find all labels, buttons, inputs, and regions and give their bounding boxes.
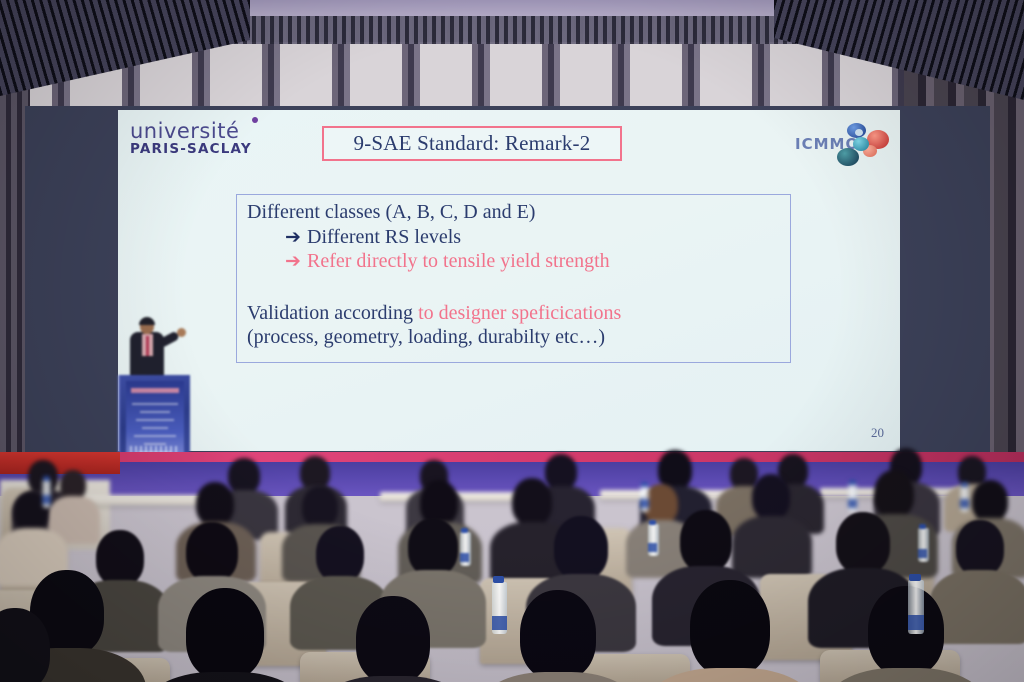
validation-line: Validation according to designer spefici… [247,302,621,325]
audience-area [0,440,1024,682]
validation-accent: to designer speficications [418,302,621,324]
arrow-right-icon-pink: ➔ [285,250,307,272]
bullet-label-2: Refer directly to tensile yield strength [307,250,610,272]
logo-dot-icon [252,117,258,123]
speaker-hand [177,328,186,337]
icmmo-sphere-small-icon [855,129,863,136]
logo-line-1: université [130,121,239,142]
icmmo-sphere-dark-icon [837,148,859,166]
validation-prefix: Validation according [247,302,418,324]
ceiling-truss-band [180,16,840,44]
slide-title-box: 9-SAE Standard: Remark-2 [322,126,622,161]
icmmo-logo: ICMMO [795,123,890,165]
validation-line-2: (process, geometry, loading, durabilty e… [247,326,605,349]
conference-photo: université PARIS-SACLAY ICMMO 9-SAE Stan… [0,0,1024,682]
slide-title: 9-SAE Standard: Remark-2 [354,131,591,156]
bullet-label-1: Different RS levels [307,226,461,248]
speaker-tie [146,336,149,356]
slide-content-box: Different classes (A, B, C, D and E) ➔Di… [236,194,791,363]
speaker-hair [139,317,155,325]
podium-poster-title-bar [131,388,179,393]
arrow-right-icon-navy: ➔ [285,226,307,248]
icmmo-sphere-teal-icon [853,137,869,151]
logo-line-2: PARIS-SACLAY [130,143,252,157]
content-heading: Different classes (A, B, C, D and E) [247,201,535,224]
bullet-item-1: ➔Different RS levels [285,226,461,249]
presentation-slide: université PARIS-SACLAY ICMMO 9-SAE Stan… [118,110,900,451]
universite-paris-saclay-logo: université PARIS-SACLAY [130,121,252,157]
bullet-item-2: ➔Refer directly to tensile yield strengt… [285,250,610,273]
ceiling-center-panel [240,0,780,16]
speaker-presenter [122,318,174,378]
slide-page-number: 20 [871,425,884,441]
